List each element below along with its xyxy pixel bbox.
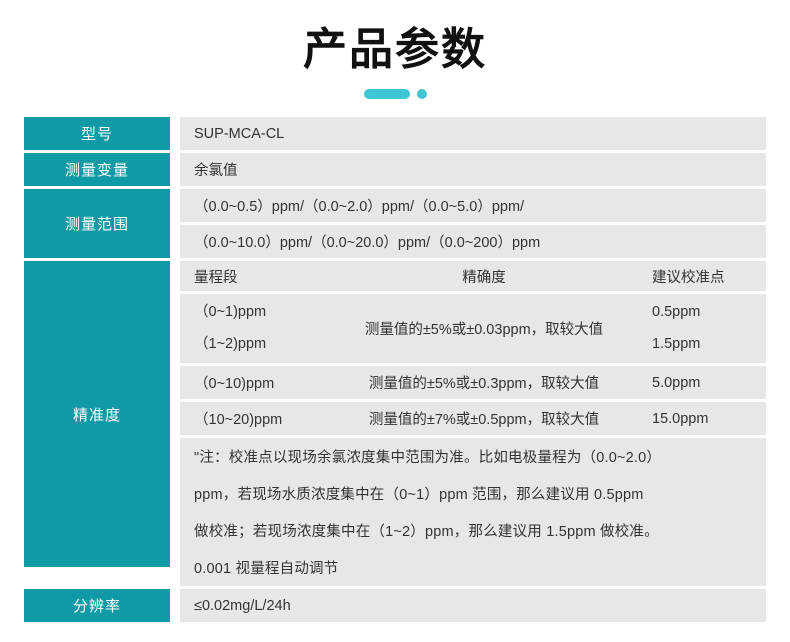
row-value-wrap-variable: 余氯值 bbox=[180, 153, 766, 186]
accuracy-calibration-2: 5.0ppm bbox=[640, 375, 766, 391]
accuracy-note-line-1: ppm，若现场水质浓度集中在（0~1）ppm 范围，那么建议用 0.5ppm bbox=[180, 475, 766, 512]
row-label-variable: 测量变量 bbox=[24, 153, 170, 186]
accuracy-header-accuracy: 精确度 bbox=[328, 266, 640, 287]
accuracy-merged-row: （0~1)ppm （1~2)ppm 测量值的±5%或±0.03ppm，取较大值 … bbox=[180, 294, 766, 363]
accuracy-header-calibration: 建议校准点 bbox=[640, 266, 766, 287]
accuracy-accuracy-3: 测量值的±7%或±0.5ppm，取较大值 bbox=[328, 408, 640, 429]
row-label-resolution: 分辨率 bbox=[24, 589, 170, 622]
accuracy-range-2: （0~10)ppm bbox=[180, 372, 328, 393]
decoration-dot-icon bbox=[417, 89, 427, 99]
row-value-resolution: ≤0.02mg/L/24h bbox=[180, 589, 766, 622]
accuracy-range-3: （10~20)ppm bbox=[180, 408, 328, 429]
table-row-accuracy: 精准度 量程段 精确度 建议校准点 （0~1)ppm （1~2)ppm 测量值的… bbox=[24, 261, 766, 586]
row-value-model: SUP-MCA-CL bbox=[180, 117, 766, 150]
row-label-accuracy: 精准度 bbox=[24, 261, 170, 567]
accuracy-calibration-1: 1.5ppm bbox=[652, 337, 766, 353]
accuracy-note-line-0: "注：校准点以现场余氯浓度集中范围为准。比如电极量程为（0.0~2.0） bbox=[180, 438, 766, 475]
table-row: （10~20)ppm 测量值的±7%或±0.5ppm，取较大值 15.0ppm bbox=[180, 402, 766, 435]
accuracy-header-range: 量程段 bbox=[180, 266, 328, 287]
title-decoration bbox=[0, 88, 790, 99]
product-spec-page: 产品参数 型号 SUP-MCA-CL 测量变量 余氯值 测量范围 （0.0~0.… bbox=[0, 0, 790, 642]
accuracy-merged-calibrations: 0.5ppm 1.5ppm bbox=[640, 294, 766, 363]
accuracy-note-line-3: 0.001 视量程自动调节 bbox=[180, 549, 766, 586]
accuracy-merged-ranges: （0~1)ppm （1~2)ppm bbox=[180, 294, 328, 363]
table-row-model: 型号 SUP-MCA-CL bbox=[24, 117, 766, 150]
decoration-bar-icon bbox=[364, 89, 410, 99]
accuracy-accuracy-2: 测量值的±5%或±0.3ppm，取较大值 bbox=[328, 372, 640, 393]
accuracy-note-line-2: 做校准；若现场浓度集中在（1~2）ppm，那么建议用 1.5ppm 做校准。 bbox=[180, 512, 766, 549]
accuracy-block: 量程段 精确度 建议校准点 （0~1)ppm （1~2)ppm 测量值的±5%或… bbox=[180, 261, 766, 586]
spec-table: 型号 SUP-MCA-CL 测量变量 余氯值 测量范围 （0.0~0.5）ppm… bbox=[24, 117, 766, 622]
title-block: 产品参数 bbox=[0, 0, 790, 99]
accuracy-calibration-3: 15.0ppm bbox=[640, 411, 766, 427]
row-value-wrap-range: （0.0~0.5）ppm/（0.0~2.0）ppm/（0.0~5.0）ppm/ … bbox=[180, 189, 766, 258]
accuracy-range-0: （0~1)ppm bbox=[194, 305, 328, 321]
row-value-wrap-resolution: ≤0.02mg/L/24h bbox=[180, 589, 766, 622]
accuracy-calibration-0: 0.5ppm bbox=[652, 305, 766, 321]
table-row: （0~10)ppm 测量值的±5%或±0.3ppm，取较大值 5.0ppm bbox=[180, 366, 766, 399]
row-label-model: 型号 bbox=[24, 117, 170, 150]
table-row-resolution: 分辨率 ≤0.02mg/L/24h bbox=[24, 589, 766, 622]
accuracy-header-row: 量程段 精确度 建议校准点 bbox=[180, 261, 766, 291]
row-value-variable: 余氯值 bbox=[180, 153, 766, 186]
row-value-range-line-2: （0.0~10.0）ppm/（0.0~20.0）ppm/（0.0~200）ppm bbox=[180, 225, 766, 258]
accuracy-merged-accuracy: 测量值的±5%或±0.03ppm，取较大值 bbox=[328, 294, 640, 363]
table-row-variable: 测量变量 余氯值 bbox=[24, 153, 766, 186]
table-row-range: 测量范围 （0.0~0.5）ppm/（0.0~2.0）ppm/（0.0~5.0）… bbox=[24, 189, 766, 258]
row-value-range-line-1: （0.0~0.5）ppm/（0.0~2.0）ppm/（0.0~5.0）ppm/ bbox=[180, 189, 766, 222]
page-title: 产品参数 bbox=[0, 26, 790, 74]
row-value-wrap-model: SUP-MCA-CL bbox=[180, 117, 766, 150]
accuracy-range-1: （1~2)ppm bbox=[194, 337, 328, 353]
row-label-range: 测量范围 bbox=[24, 189, 170, 258]
